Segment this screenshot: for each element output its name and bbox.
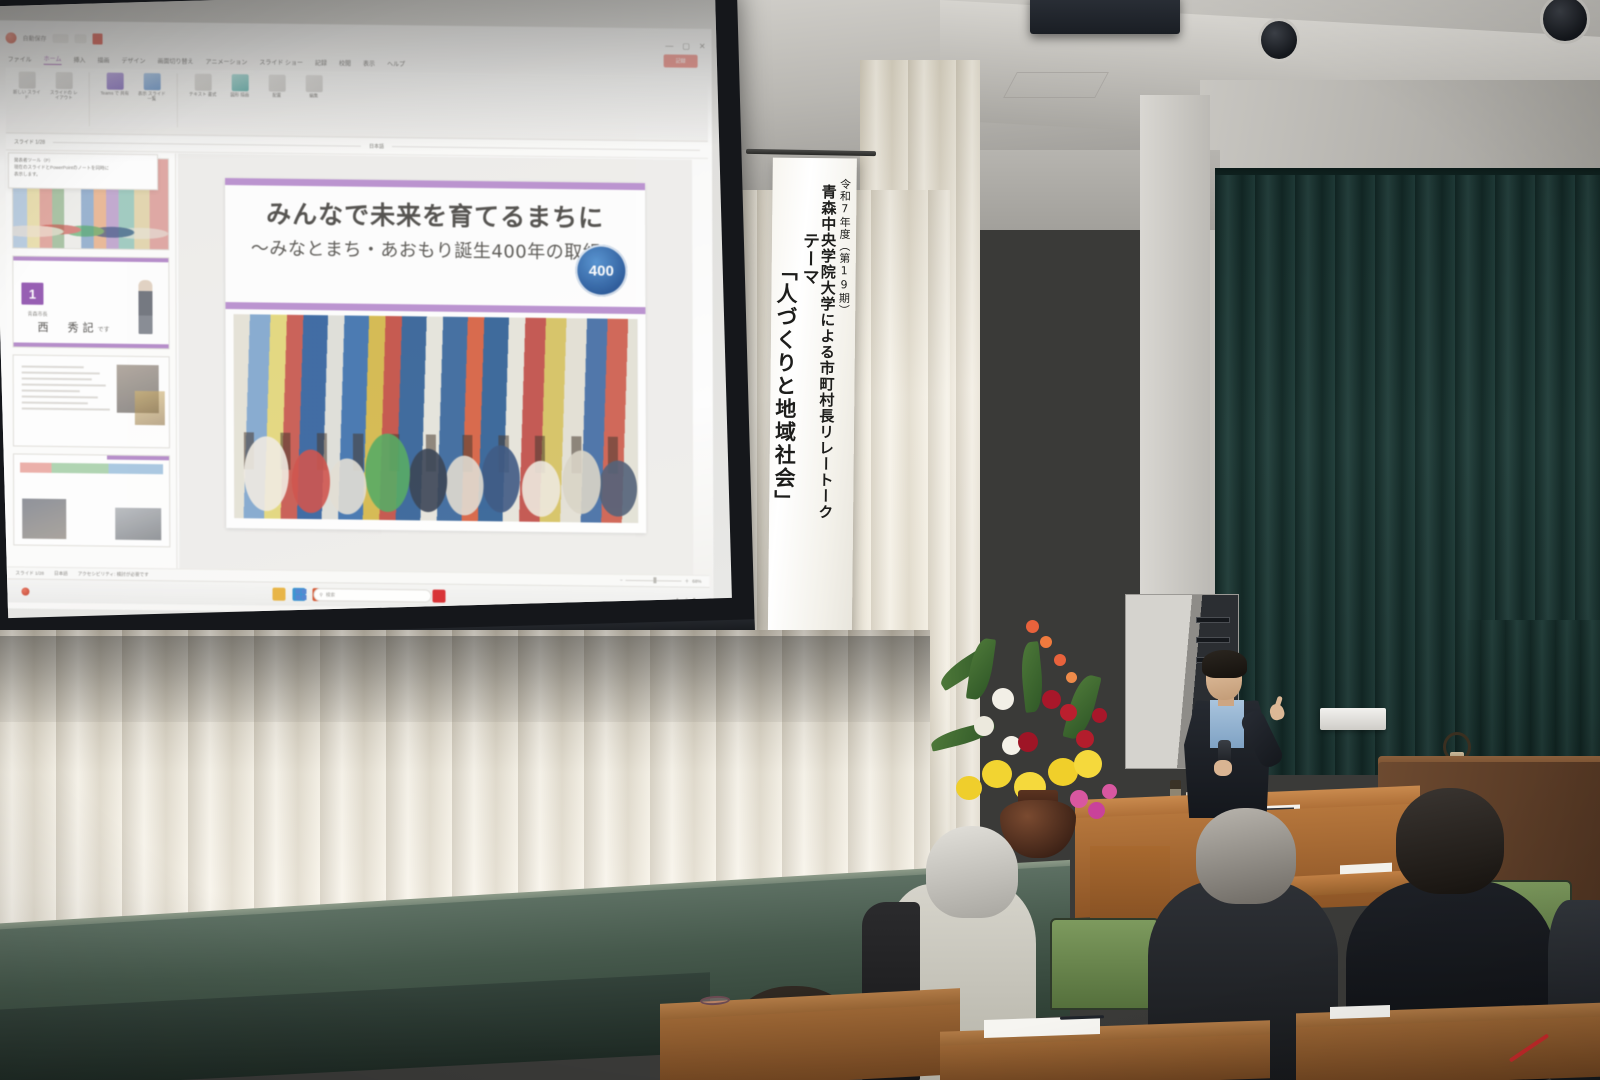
ribbon-label: Teams で 共有: [100, 92, 129, 97]
pink-orchid: [1102, 784, 1117, 799]
tab-view[interactable]: 表示: [363, 58, 375, 67]
zoom-knob: [654, 577, 657, 583]
audience-desk-front: [1296, 1017, 1600, 1080]
yellow-lily: [982, 760, 1012, 788]
screen-surface: 自動保存 — ▢ ✕ ファイル ホーム 挿入 描画 デザイン: [0, 0, 732, 618]
accessibility-status[interactable]: アクセシビリティ: 検討が必要です: [78, 571, 149, 578]
slide-org-label: 青森市長: [27, 311, 47, 318]
record-button[interactable]: 記録: [664, 54, 698, 67]
ribbon-label: 新しい スライド: [12, 90, 42, 100]
recessed-round-speaker: [1258, 18, 1300, 62]
green-foliage: [966, 637, 996, 701]
red-rose: [1076, 730, 1094, 748]
ribbon-shapes[interactable]: 図形 描画: [225, 74, 255, 98]
program-photo-left: [22, 499, 66, 540]
ribbon-arrange[interactable]: 配置: [262, 74, 292, 98]
orange-spray: [1066, 672, 1077, 683]
office-logo-icon: [6, 32, 17, 43]
presenter: [1166, 648, 1290, 818]
slide-accent-band: [14, 342, 169, 348]
slide-number-badge: 1: [21, 283, 43, 305]
edit-icon: [305, 75, 322, 92]
ribbon-label: 配置: [272, 94, 281, 99]
subbar-divider: [53, 142, 361, 147]
tab-insert[interactable]: 挿入: [73, 55, 85, 64]
text-format-icon: [194, 74, 211, 91]
white-calla-lily: [992, 688, 1014, 710]
subbar-left-label: スライド 1/28: [14, 138, 45, 145]
audience-head-gray: [926, 826, 1018, 918]
slide-sorter-icon: [143, 73, 160, 90]
tab-transitions[interactable]: 画面切り替え: [158, 56, 194, 65]
banner-theme-title: 「人づくりと地域社会」: [770, 174, 798, 694]
ribbon[interactable]: 新しい スライド スライドの レイアウト Teams で 共有 表示 スライド一…: [6, 67, 708, 142]
photo-crowd: [234, 400, 638, 523]
thumbnail-slide[interactable]: [13, 453, 170, 547]
thumbnail-photo-people: [13, 206, 168, 249]
layout-icon: [55, 72, 72, 89]
ribbon-edit[interactable]: 編集: [299, 75, 329, 99]
ribbon-slide-sorter[interactable]: 表示 スライド一覧: [137, 73, 167, 102]
zoom-out-button[interactable]: −: [620, 578, 623, 583]
orange-spray: [1040, 636, 1052, 648]
slide-title: みんなで未来を育てるまちに: [225, 194, 645, 235]
tab-review[interactable]: 校閲: [339, 58, 351, 67]
thumbnail-slide-active[interactable]: 1 青森市長 西 秀記です: [12, 255, 169, 349]
thumbnail-slide[interactable]: [13, 354, 170, 448]
taskbar-search-input[interactable]: ⚲ 検索: [313, 588, 431, 602]
search-placeholder: 検索: [326, 592, 335, 598]
teams-icon: [106, 73, 123, 90]
pink-orchid: [1070, 790, 1088, 808]
slide-accent-band: [13, 256, 168, 262]
zoom-track[interactable]: [626, 580, 682, 582]
red-rose: [1092, 708, 1107, 723]
new-slide-icon: [18, 72, 35, 89]
slide-accent-band-mid: [225, 302, 645, 314]
subbar-mid-label: 日本語: [369, 143, 384, 150]
close-button[interactable]: ✕: [699, 41, 706, 50]
undo-icon[interactable]: [53, 33, 69, 42]
profile-text-lines: [22, 366, 110, 411]
presenter-mic-hand: [1214, 760, 1232, 776]
notepaper-sheet: [1330, 1005, 1390, 1019]
autosave-label[interactable]: 自動保存: [23, 33, 47, 42]
save-icon[interactable]: [93, 33, 103, 44]
curtain-shadow-band: [0, 636, 930, 722]
lecture-hall-scene: 自動保存 — ▢ ✕ ファイル ホーム 挿入 描画 デザイン: [0, 0, 1600, 1080]
ribbon-layout[interactable]: スライドの レイアウト: [49, 72, 79, 101]
orange-spray: [1026, 620, 1039, 633]
banner-text-block: 令和7年度（第19期） 青森中央学院大学による市町村長リレートーク テーマ 「人…: [767, 158, 857, 705]
slide-editing-stage[interactable]: みんなで未来を育てるまちに ～みなとまち・あおもり誕生400年の取組～ 400: [178, 153, 693, 576]
pink-orchid: [1088, 802, 1105, 819]
rack-slot: [1196, 637, 1230, 643]
tab-draw[interactable]: 描画: [97, 55, 109, 64]
redo-icon[interactable]: [75, 34, 87, 43]
zoom-slider[interactable]: − ＋ 68%: [620, 577, 702, 584]
tab-help[interactable]: ヘルプ: [387, 59, 405, 68]
tab-file[interactable]: ファイル: [8, 54, 32, 63]
tab-slideshow[interactable]: スライド ショー: [259, 57, 303, 67]
zoom-level-label: 68%: [692, 579, 701, 584]
projection-screen: 自動保存 — ▢ ✕ ファイル ホーム 挿入 描画 デザイン: [0, 0, 755, 660]
tab-animations[interactable]: アニメーション: [206, 56, 248, 66]
minimize-button[interactable]: —: [665, 41, 673, 50]
ceiling-mounted-projector-box: [1030, 0, 1180, 34]
search-icon: ⚲: [319, 592, 322, 598]
audience-chair: [1050, 918, 1160, 1010]
projected-desktop[interactable]: 自動保存 — ▢ ✕ ファイル ホーム 挿入 描画 デザイン: [0, 20, 714, 617]
red-rose: [1060, 704, 1077, 721]
slide-person-photo: [138, 280, 152, 334]
ribbon-divider: [89, 72, 90, 126]
air-vent-grille: [1003, 72, 1109, 98]
audience-head-center: [1196, 808, 1296, 904]
event-banner: 令和7年度（第19期） 青森中央学院大学による市町村長リレートーク テーマ 「人…: [767, 158, 857, 705]
tab-design[interactable]: デザイン: [121, 55, 145, 64]
program-header-band: [20, 463, 163, 475]
file-explorer-icon[interactable]: [272, 588, 285, 601]
slide-accent-band-top: [225, 178, 645, 190]
slide-speaker-suffix: です: [98, 327, 110, 333]
taskbar-left-info: [21, 587, 29, 595]
app-icon: [21, 587, 29, 595]
orange-spray: [1054, 654, 1066, 666]
program-photo-right: [115, 508, 161, 541]
arrange-icon: [268, 75, 285, 92]
tab-home[interactable]: ホーム: [44, 53, 62, 64]
tooltip-line-2: 表示します。: [14, 171, 152, 179]
red-rose: [1042, 690, 1061, 709]
red-rose: [1018, 732, 1038, 752]
adobe-icon[interactable]: [432, 590, 445, 603]
zoom-in-button[interactable]: ＋: [685, 578, 690, 584]
windows-start-icon[interactable]: [295, 589, 306, 600]
ribbon-label: 図形 描画: [230, 93, 249, 98]
anniversary-400-logo: 400: [575, 244, 627, 297]
ribbon-divider: [177, 73, 178, 127]
rack-slot: [1196, 617, 1230, 623]
slide-counter: スライド 1/28: [15, 570, 44, 576]
ribbon-label: 表示 スライド一覧: [137, 92, 167, 102]
yellow-lily: [1074, 750, 1102, 778]
audience-head-suit: [1396, 788, 1504, 894]
maximize-button[interactable]: ▢: [682, 41, 690, 50]
presenter-hair: [1202, 650, 1247, 678]
current-slide[interactable]: みんなで未来を育てるまちに ～みなとまち・あおもり誕生400年の取組～ 400: [225, 178, 646, 533]
ribbon-text-format[interactable]: テキスト 書式: [188, 74, 218, 98]
yellow-lily: [956, 776, 982, 800]
profile-photo-secondary: [135, 391, 165, 425]
ribbon-label: スライドの レイアウト: [49, 91, 79, 101]
ribbon-label: テキスト 書式: [189, 93, 216, 98]
subbar-divider: [392, 146, 700, 151]
slide-photo: [234, 314, 639, 523]
slide-speaker-name: 西 秀記です: [38, 319, 110, 336]
shapes-icon: [231, 74, 248, 91]
slide-accent-band: [107, 456, 169, 461]
ribbon-label: 編集: [309, 94, 318, 99]
language-indicator[interactable]: 日本語: [54, 570, 68, 576]
white-calla-lily: [974, 716, 994, 736]
presenter-view-tooltip: 発表者ツール（P） 現在のスライドとPowerPointのノートを同時に 表示し…: [8, 152, 158, 190]
slide-thumbnail-pane[interactable]: 1 青森市長 西 秀記です: [6, 151, 177, 570]
ribbon-teams-share[interactable]: Teams で 共有: [100, 72, 130, 96]
white-av-device: [1320, 708, 1386, 730]
tab-record[interactable]: 記録: [315, 58, 327, 67]
ribbon-new-slide[interactable]: 新しい スライド: [12, 71, 42, 100]
